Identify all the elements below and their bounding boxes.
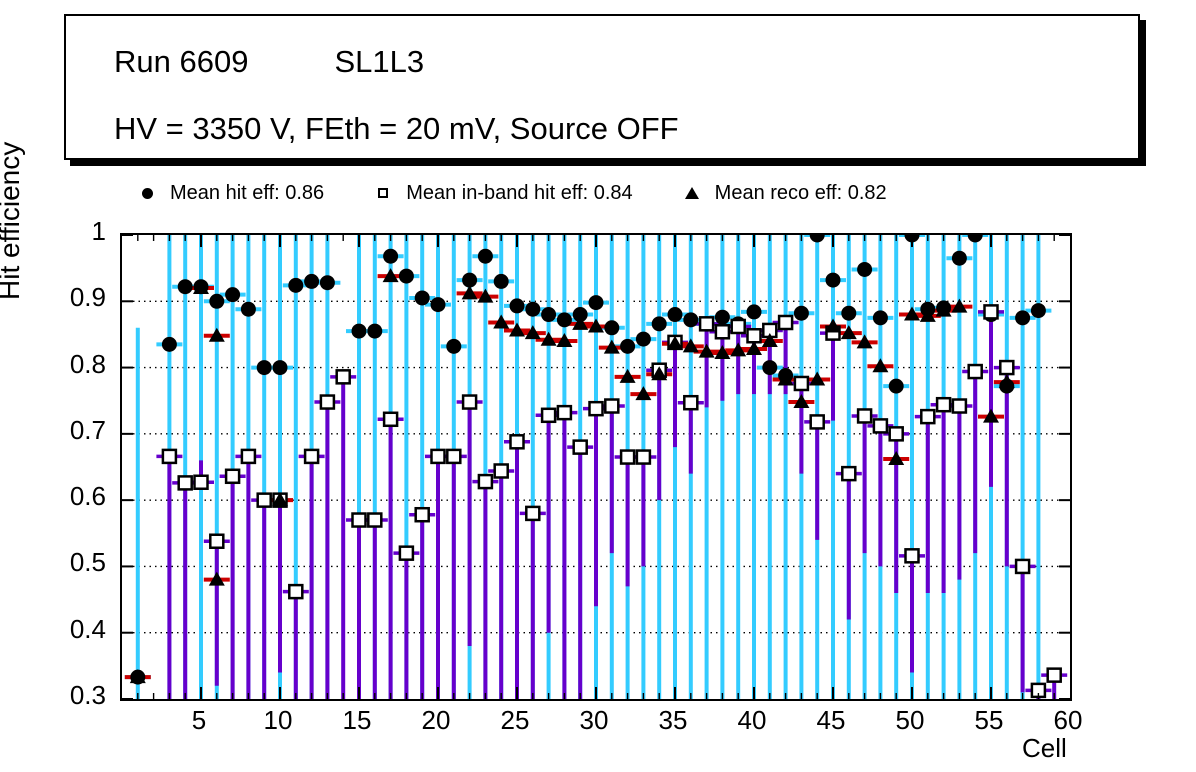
plot-frame (120, 233, 1072, 701)
legend-label-hit-eff: Mean hit eff: 0.86 (170, 182, 324, 205)
x-tick-label: 15 (317, 705, 397, 736)
chart-page: Run 6609SL1L3 HV = 3350 V, FEth = 20 mV,… (0, 0, 1196, 772)
legend-label-inband-eff: Mean in-band hit eff: 0.84 (406, 182, 632, 205)
x-tick-label: 60 (1028, 705, 1108, 736)
x-tick-label: 10 (238, 705, 318, 736)
y-tick-label: 0.6 (0, 481, 106, 512)
open-square-marker-icon (360, 188, 406, 198)
title-line-run: Run 6609SL1L3 (114, 44, 424, 80)
y-tick-label: 0.5 (0, 547, 106, 578)
title-line-conditions: HV = 3350 V, FEth = 20 mV, Source OFF (114, 111, 679, 147)
legend-label-reco-eff: Mean reco eff: 0.82 (715, 182, 887, 205)
filled-circle-marker-icon (124, 188, 170, 199)
y-tick-label: 1 (0, 216, 106, 247)
legend-entry-inband-eff: Mean in-band hit eff: 0.84 (360, 182, 632, 205)
filled-triangle-marker-icon (669, 187, 715, 199)
legend-entry-hit-eff: Mean hit eff: 0.86 (124, 182, 324, 205)
y-tick-label: 0.8 (0, 349, 106, 380)
x-tick-label: 50 (870, 705, 950, 736)
x-tick-label: 45 (791, 705, 871, 736)
axis-ticks-layer (122, 235, 1070, 699)
y-tick-label: 0.4 (0, 614, 106, 645)
title-box: Run 6609SL1L3 HV = 3350 V, FEth = 20 mV,… (64, 14, 1140, 160)
superlayer-label: SL1L3 (334, 44, 424, 79)
y-tick-label: 0.9 (0, 282, 106, 313)
run-label: Run 6609 (114, 44, 248, 79)
y-tick-label: 0.3 (0, 680, 106, 711)
x-tick-label: 40 (712, 705, 792, 736)
x-tick-label: 35 (633, 705, 713, 736)
x-tick-label: 5 (159, 705, 239, 736)
x-tick-label: 55 (949, 705, 1029, 736)
x-tick-label: 20 (396, 705, 476, 736)
y-tick-label: 0.7 (0, 415, 106, 446)
x-tick-label: 30 (554, 705, 634, 736)
x-axis-title: Cell (1022, 733, 1067, 764)
legend-entry-reco-eff: Mean reco eff: 0.82 (669, 182, 887, 205)
chart-legend: Mean hit eff: 0.86 Mean in-band hit eff:… (120, 171, 1026, 215)
plot-area (122, 235, 1070, 699)
x-tick-label: 25 (475, 705, 555, 736)
